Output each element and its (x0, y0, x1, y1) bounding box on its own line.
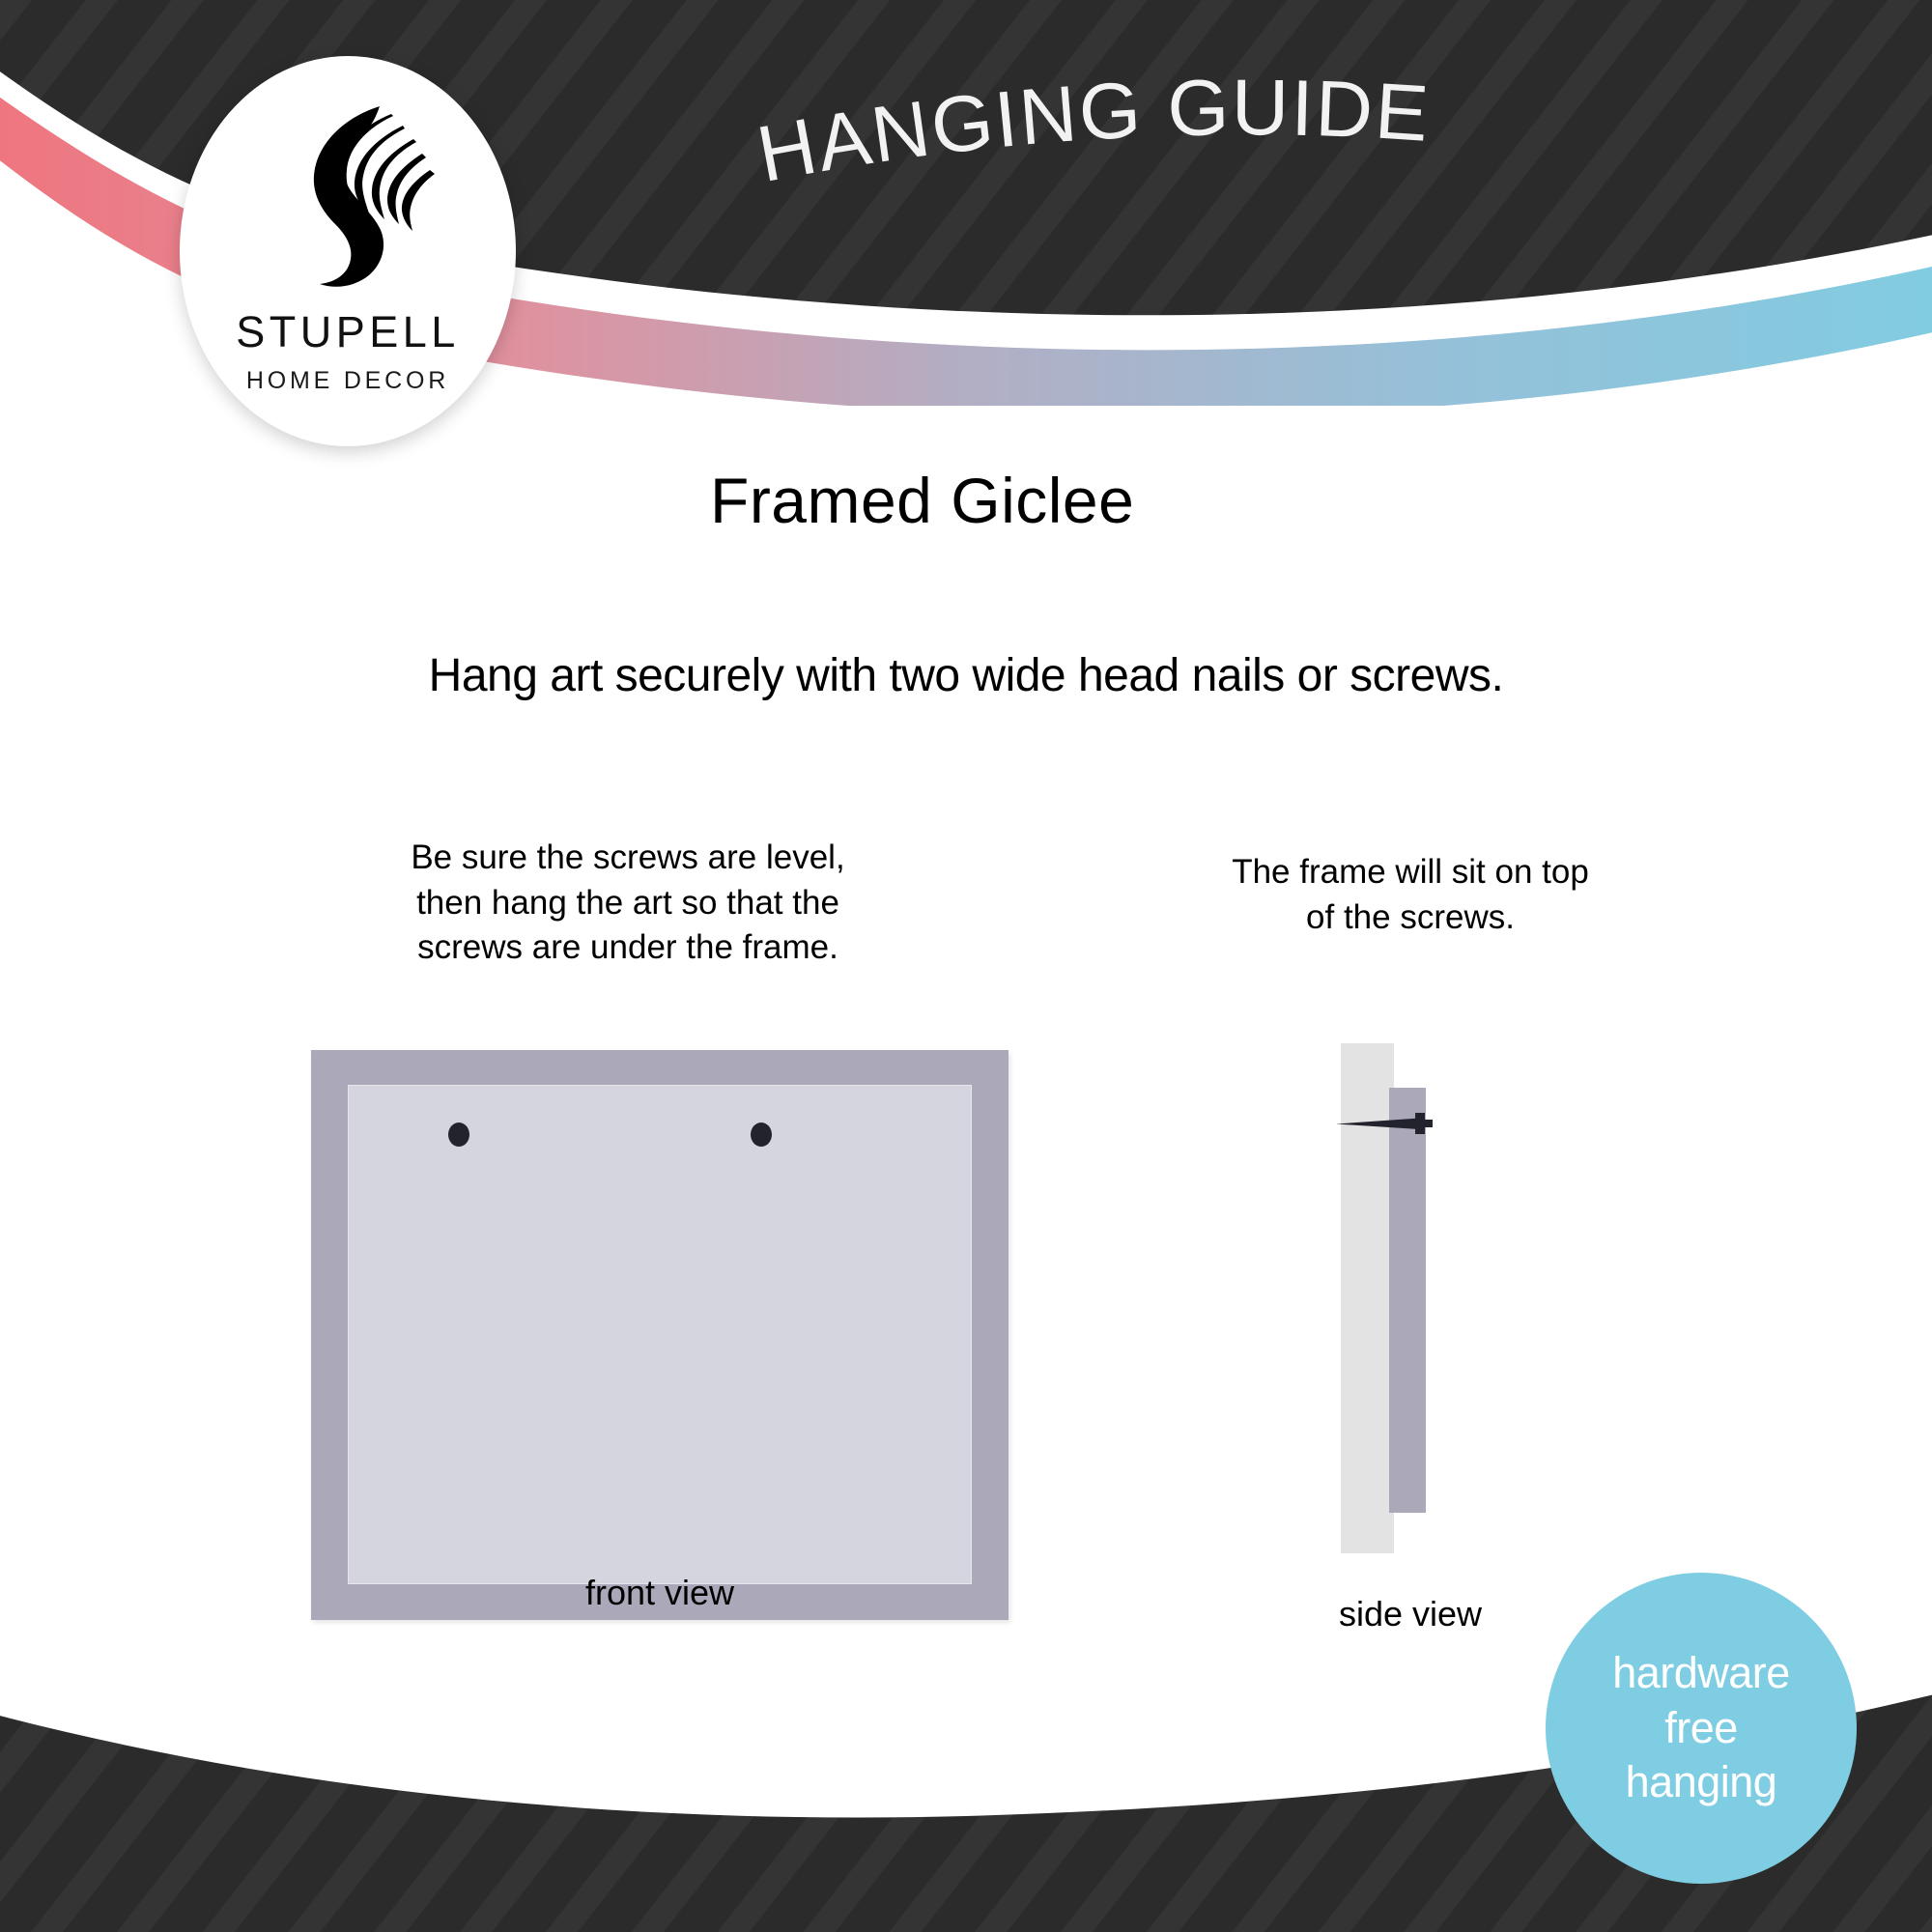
badge-line-3: hanging (1626, 1758, 1777, 1806)
side-view-diagram (1333, 1043, 1507, 1565)
badge-line-2: free (1664, 1704, 1738, 1752)
page-title-text: HANGING GUIDE (751, 64, 1433, 199)
svg-text:HANGING GUIDE: HANGING GUIDE (751, 64, 1433, 199)
nail-side-icon (1334, 1111, 1442, 1136)
brand-tagline: HOME DECOR (246, 367, 449, 395)
front-view-label: front view (311, 1573, 1009, 1613)
picture-frame-front (311, 1050, 1009, 1620)
side-caption-line-1: The frame will sit on top (1101, 850, 1719, 895)
side-caption-line-2: of the screws. (1101, 895, 1719, 941)
front-caption-line-1: Be sure the screws are level, (241, 836, 1014, 881)
front-caption-line-3: screws are under the frame. (241, 925, 1014, 971)
brand-logo-badge: STUPELL HOME DECOR (180, 56, 516, 446)
hardware-free-hanging-badge: hardware free hanging (1546, 1573, 1857, 1884)
front-view-caption-block: Be sure the screws are level, then hang … (241, 836, 1014, 971)
side-view-caption-block: The frame will sit on top of the screws. (1101, 850, 1719, 940)
screw-dot-left (448, 1122, 469, 1147)
brand-name: STUPELL (236, 307, 460, 357)
product-type-heading: Framed Giclee (710, 464, 1134, 537)
stupell-swirl-logo-icon (256, 100, 440, 294)
frame-cross-section (1389, 1088, 1426, 1513)
front-caption-line-2: then hang the art so that the (241, 881, 1014, 926)
frame-mat-area (348, 1085, 972, 1584)
screw-dot-right (751, 1122, 772, 1147)
main-instruction-text: Hang art securely with two wide head nai… (0, 649, 1932, 702)
page-title: HANGING GUIDE (710, 77, 1483, 266)
side-view-label: side view (1207, 1594, 1613, 1634)
hanging-guide-page: HANGING GUIDE STUPELL HOME DECOR Framed … (0, 0, 1932, 1932)
badge-line-1: hardware (1612, 1649, 1790, 1697)
front-view-diagram (311, 1050, 1009, 1620)
